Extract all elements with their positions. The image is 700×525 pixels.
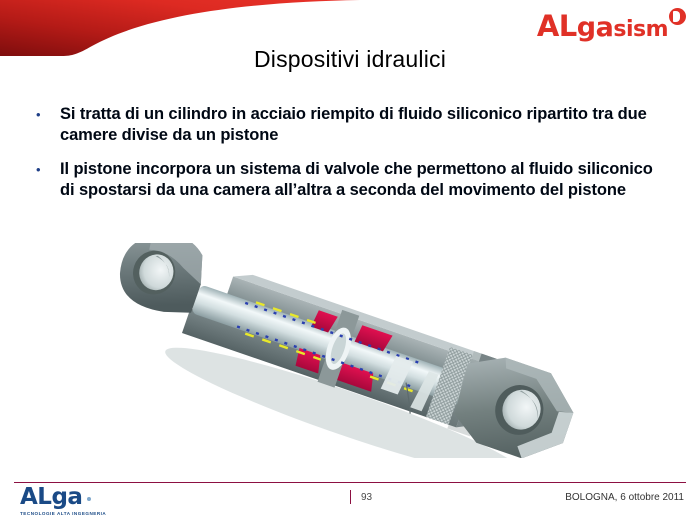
footer-tick-divider xyxy=(350,490,351,504)
footer-logo-label: ALga xyxy=(20,484,82,510)
brand-logo-text-part3: sism xyxy=(613,17,668,42)
bullet-marker-icon: • xyxy=(30,104,60,125)
bullet-marker-icon: • xyxy=(30,159,60,180)
brand-logo-text: ALgasism xyxy=(537,12,668,41)
bullet-list: • Si tratta di un cilindro in acciaio ri… xyxy=(30,104,660,214)
bullet-text: Il pistone incorpora un sistema di valvo… xyxy=(60,159,660,201)
footer-logo: ALga TECNOLOGIE ALTA INGEGNERIA xyxy=(20,486,150,518)
brand-logo-text-part1: AL xyxy=(537,9,577,43)
damper-illustration-graphic xyxy=(95,243,595,458)
page-title: Dispositivi idraulici xyxy=(0,46,700,73)
footer-logo-tagline: TECNOLOGIE ALTA INGEGNERIA xyxy=(20,511,150,516)
hydraulic-damper-cutaway-diagram xyxy=(95,243,595,458)
registered-badge-icon xyxy=(669,8,686,25)
page-number: 93 xyxy=(361,492,372,503)
footer-logo-text: ALga xyxy=(20,486,150,509)
list-item: • Si tratta di un cilindro in acciaio ri… xyxy=(30,104,660,146)
footer-location-date: BOLOGNA, 6 ottobre 2011 xyxy=(565,492,684,503)
accent-dot-icon xyxy=(87,497,91,501)
footer-divider xyxy=(14,482,686,483)
brand-logo: ALgasism xyxy=(537,6,686,40)
footer-page-indicator: 93 xyxy=(350,490,372,504)
brand-logo-text-part2: ga xyxy=(577,12,614,43)
bullet-text: Si tratta di un cilindro in acciaio riem… xyxy=(60,104,660,146)
list-item: • Il pistone incorpora un sistema di val… xyxy=(30,159,660,201)
